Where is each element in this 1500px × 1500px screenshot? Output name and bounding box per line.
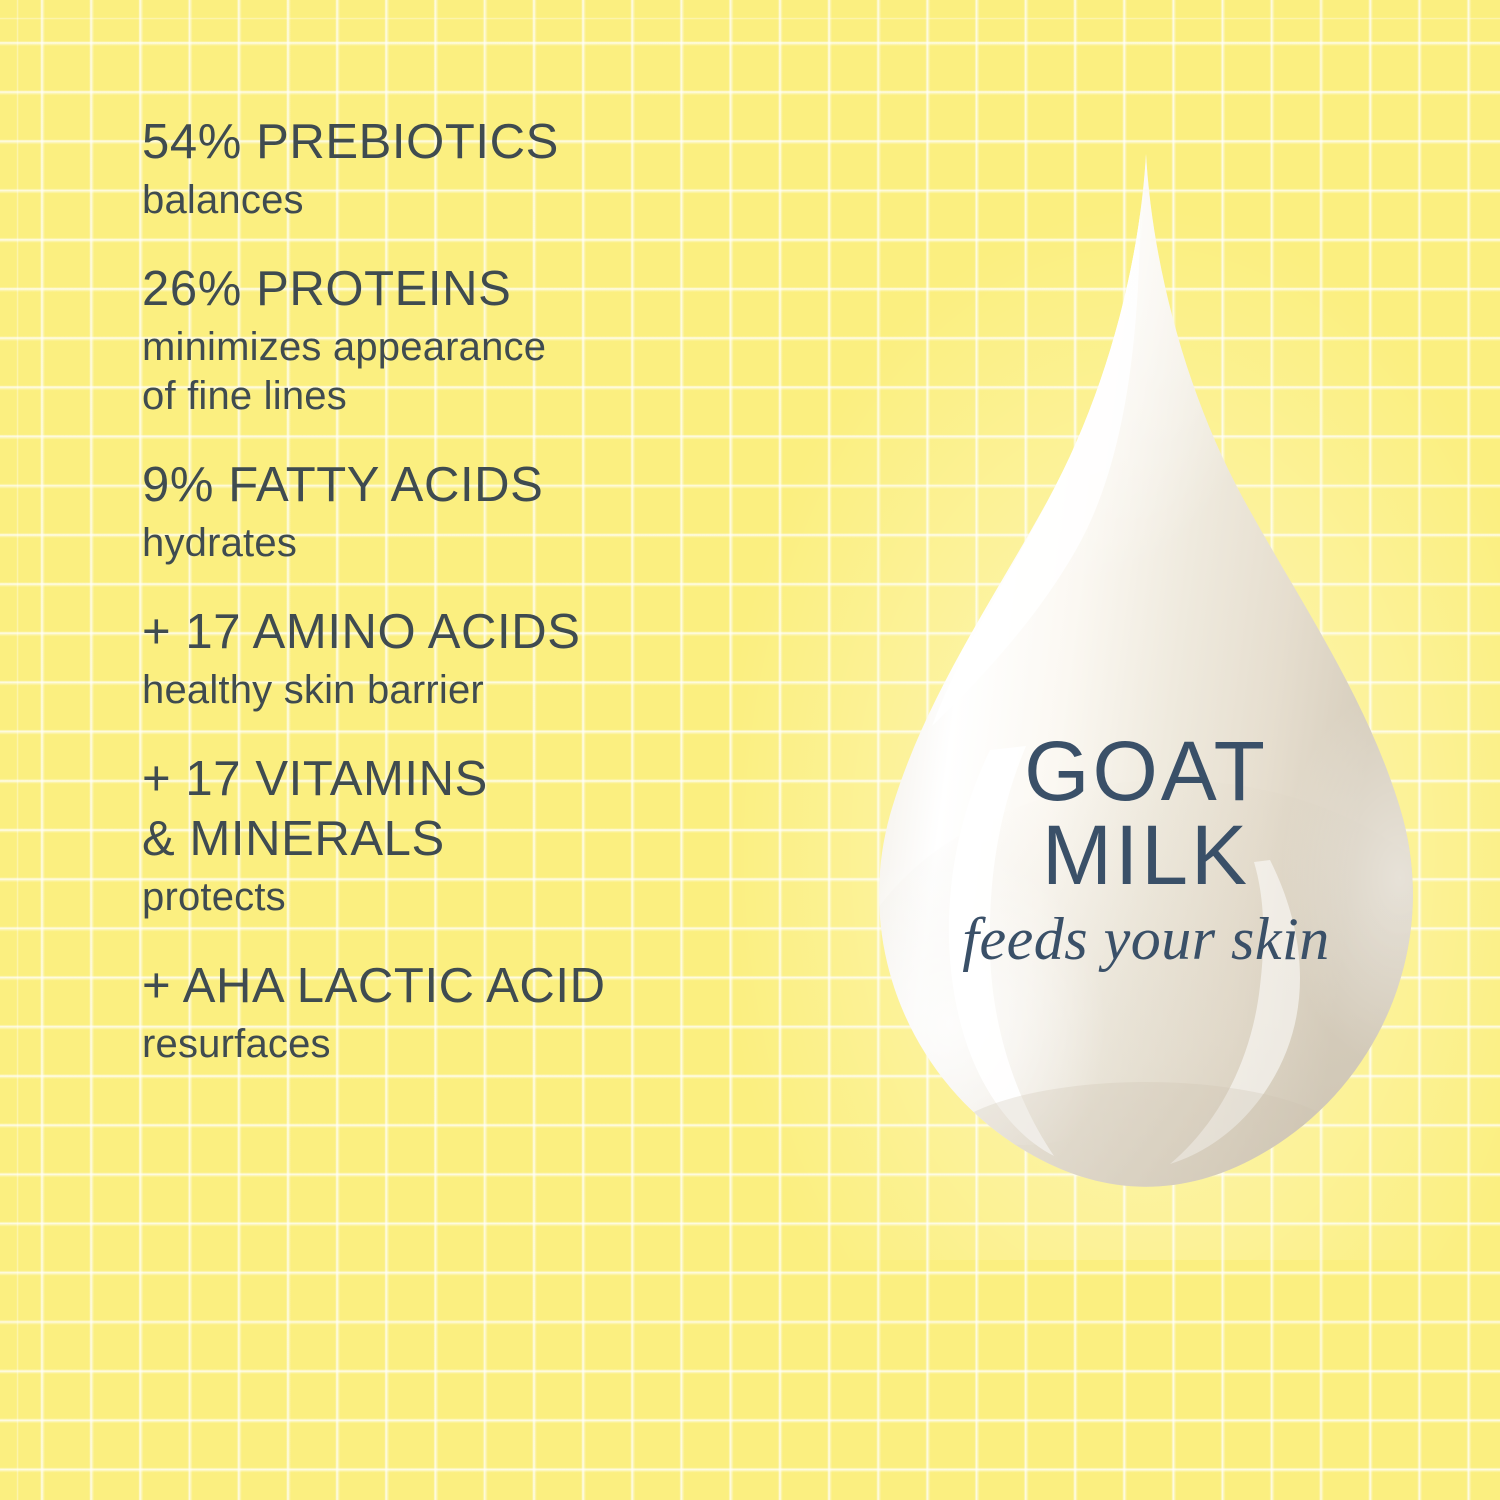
ingredient-benefit: resurfaces bbox=[142, 1020, 862, 1069]
ingredient-item: + AHA LACTIC ACID resurfaces bbox=[142, 956, 862, 1069]
ingredient-headline: + 17 VITAMINS & MINERALS bbox=[142, 749, 862, 869]
ingredient-headline: + AHA LACTIC ACID bbox=[142, 956, 862, 1016]
ingredient-headline: 54% PREBIOTICS bbox=[142, 112, 862, 172]
ingredient-list: 54% PREBIOTICS balances 26% PROTEINS min… bbox=[142, 112, 862, 1069]
ingredient-item: + 17 AMINO ACIDS healthy skin barrier bbox=[142, 602, 862, 715]
ingredient-headline: 9% FATTY ACIDS bbox=[142, 455, 862, 515]
product-benefits-poster: 54% PREBIOTICS balances 26% PROTEINS min… bbox=[0, 0, 1500, 1500]
ingredient-item: 26% PROTEINS minimizes appearance of fin… bbox=[142, 259, 862, 421]
ingredient-headline: + 17 AMINO ACIDS bbox=[142, 602, 862, 662]
ingredient-benefit: protects bbox=[142, 873, 862, 922]
milk-droplet-icon bbox=[840, 140, 1452, 1210]
ingredient-benefit: healthy skin barrier bbox=[142, 666, 862, 715]
ingredient-item: 54% PREBIOTICS balances bbox=[142, 112, 862, 225]
ingredient-item: + 17 VITAMINS & MINERALS protects bbox=[142, 749, 862, 922]
ingredient-benefit: balances bbox=[142, 176, 862, 225]
ingredient-item: 9% FATTY ACIDS hydrates bbox=[142, 455, 862, 568]
ingredient-benefit: hydrates bbox=[142, 519, 862, 568]
ingredient-headline: 26% PROTEINS bbox=[142, 259, 862, 319]
ingredient-benefit: minimizes appearance of fine lines bbox=[142, 323, 862, 421]
